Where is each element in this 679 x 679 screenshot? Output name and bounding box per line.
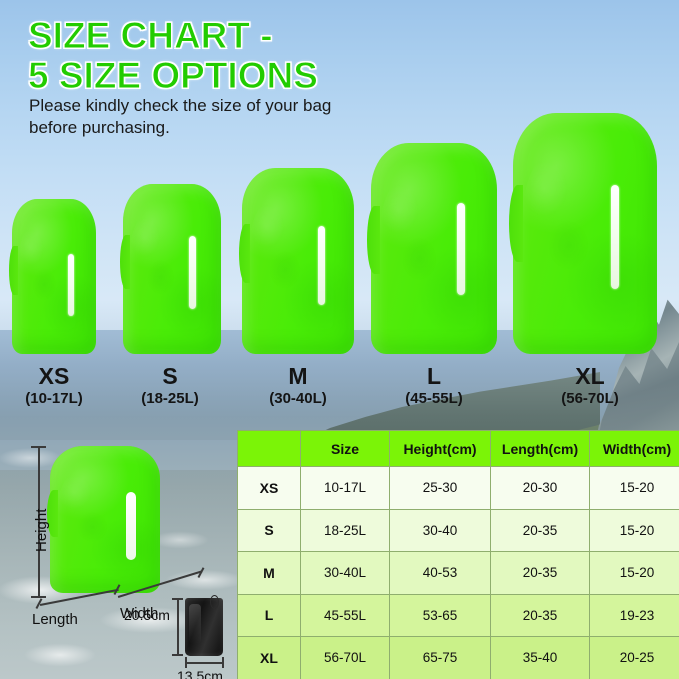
cell-width: 15-20 [590, 509, 679, 552]
bag-body [50, 446, 160, 593]
cell-size: 30-40L [301, 552, 390, 595]
page-title: SIZE CHART - 5 SIZE OPTIONS [28, 16, 448, 96]
bag-xs [12, 199, 96, 354]
cell-length: 20-35 [491, 594, 590, 637]
size-chart-infographic: SIZE CHART - 5 SIZE OPTIONS Please kindl… [0, 0, 679, 679]
cell-size: 18-25L [301, 509, 390, 552]
pouch-width-tick-left [185, 657, 187, 668]
table-row: M 30-40L 40-53 20-35 15-20 [238, 552, 679, 595]
cell-width: 15-20 [590, 552, 679, 595]
bag-side-bulge [367, 206, 380, 274]
dimension-diagram: Height Length Width 20.5cm 13.5cm [0, 428, 237, 679]
bag-side-bulge [120, 235, 130, 289]
table-header-row: Size Height(cm) Length(cm) Width(cm) [238, 431, 679, 467]
bag-capacity-text: (10-17L) [8, 389, 100, 409]
cell-height: 53-65 [390, 594, 491, 637]
row-label: XS [238, 467, 301, 510]
table-row: XS 10-17L 25-30 20-30 15-20 [238, 467, 679, 510]
reflective-strip [126, 492, 136, 560]
table-row: XL 56-70L 65-75 35-40 20-25 [238, 637, 679, 679]
storage-pouch [185, 598, 223, 656]
table-header-cell-length: Length(cm) [491, 431, 590, 467]
cell-length: 20-35 [491, 552, 590, 595]
table-header-cell-height: Height(cm) [390, 431, 491, 467]
pouch-width-label: 13.5cm [177, 668, 223, 679]
table-row: S 18-25L 30-40 20-35 15-20 [238, 509, 679, 552]
cell-size: 56-70L [301, 637, 390, 679]
bag-side-bulge [509, 185, 523, 262]
bag-size-text: L [388, 363, 480, 389]
bag-label-s: S (18-25L) [124, 363, 216, 409]
cell-size: 45-55L [301, 594, 390, 637]
row-label: L [238, 594, 301, 637]
height-tick-top [31, 446, 46, 448]
pouch-highlight [189, 604, 201, 644]
height-tick-bottom [31, 596, 46, 598]
cell-height: 40-53 [390, 552, 491, 595]
reflective-strip [611, 185, 619, 289]
bag-capacity-text: (18-25L) [124, 389, 216, 409]
bag-size-text: S [124, 363, 216, 389]
cell-size: 10-17L [301, 467, 390, 510]
table-header-cell-blank [238, 431, 301, 467]
bag-body [123, 184, 221, 354]
pouch-height-tick-top [172, 598, 183, 600]
bag-m [242, 168, 354, 354]
bag-xl [513, 113, 657, 354]
reflective-strip [189, 236, 196, 309]
table-header-cell-size: Size [301, 431, 390, 467]
bag-size-text: XS [8, 363, 100, 389]
bag-capacity-text: (56-70L) [544, 389, 636, 409]
bag-label-xs: XS (10-17L) [8, 363, 100, 409]
bag-label-xl: XL (56-70L) [544, 363, 636, 409]
pouch-width-line [185, 662, 223, 664]
bag-body [12, 199, 96, 354]
row-label: XL [238, 637, 301, 679]
bag-body [242, 168, 354, 354]
cell-height: 30-40 [390, 509, 491, 552]
row-label: S [238, 509, 301, 552]
bag-l [371, 143, 497, 354]
width-tick-end [198, 567, 204, 577]
bag-label-m: M (30-40L) [252, 363, 344, 409]
diagram-bag [50, 446, 160, 593]
bag-size-text: M [252, 363, 344, 389]
height-label: Height [33, 509, 50, 552]
cell-height: 25-30 [390, 467, 491, 510]
reflective-strip [457, 203, 465, 295]
bag-capacity-text: (45-55L) [388, 389, 480, 409]
pouch-width-tick-right [222, 657, 224, 668]
bag-label-l: L (45-55L) [388, 363, 480, 409]
pouch-height-line [177, 598, 179, 656]
cell-width: 19-23 [590, 594, 679, 637]
bag-side-bulge [9, 246, 17, 296]
reflective-strip [318, 226, 325, 305]
bag-side-bulge [239, 224, 250, 284]
cell-length: 20-30 [491, 467, 590, 510]
table-header-cell-width: Width(cm) [590, 431, 679, 467]
bag-body [371, 143, 497, 354]
size-table: Size Height(cm) Length(cm) Width(cm) XS … [237, 430, 679, 679]
length-label: Length [32, 611, 78, 628]
pouch-height-tick-bottom [172, 654, 183, 656]
bag-s [123, 184, 221, 354]
cell-width: 15-20 [590, 467, 679, 510]
cell-height: 65-75 [390, 637, 491, 679]
row-label: M [238, 552, 301, 595]
cell-width: 20-25 [590, 637, 679, 679]
bag-size-text: XL [544, 363, 636, 389]
cell-length: 20-35 [491, 509, 590, 552]
bag-body [513, 113, 657, 354]
cell-length: 35-40 [491, 637, 590, 679]
pouch-height-label: 20.5cm [124, 607, 170, 623]
table-row: L 45-55L 53-65 20-35 19-23 [238, 594, 679, 637]
page-subtitle: Please kindly check the size of your bag… [29, 95, 409, 139]
bag-capacity-text: (30-40L) [252, 389, 344, 409]
reflective-strip [68, 254, 74, 316]
